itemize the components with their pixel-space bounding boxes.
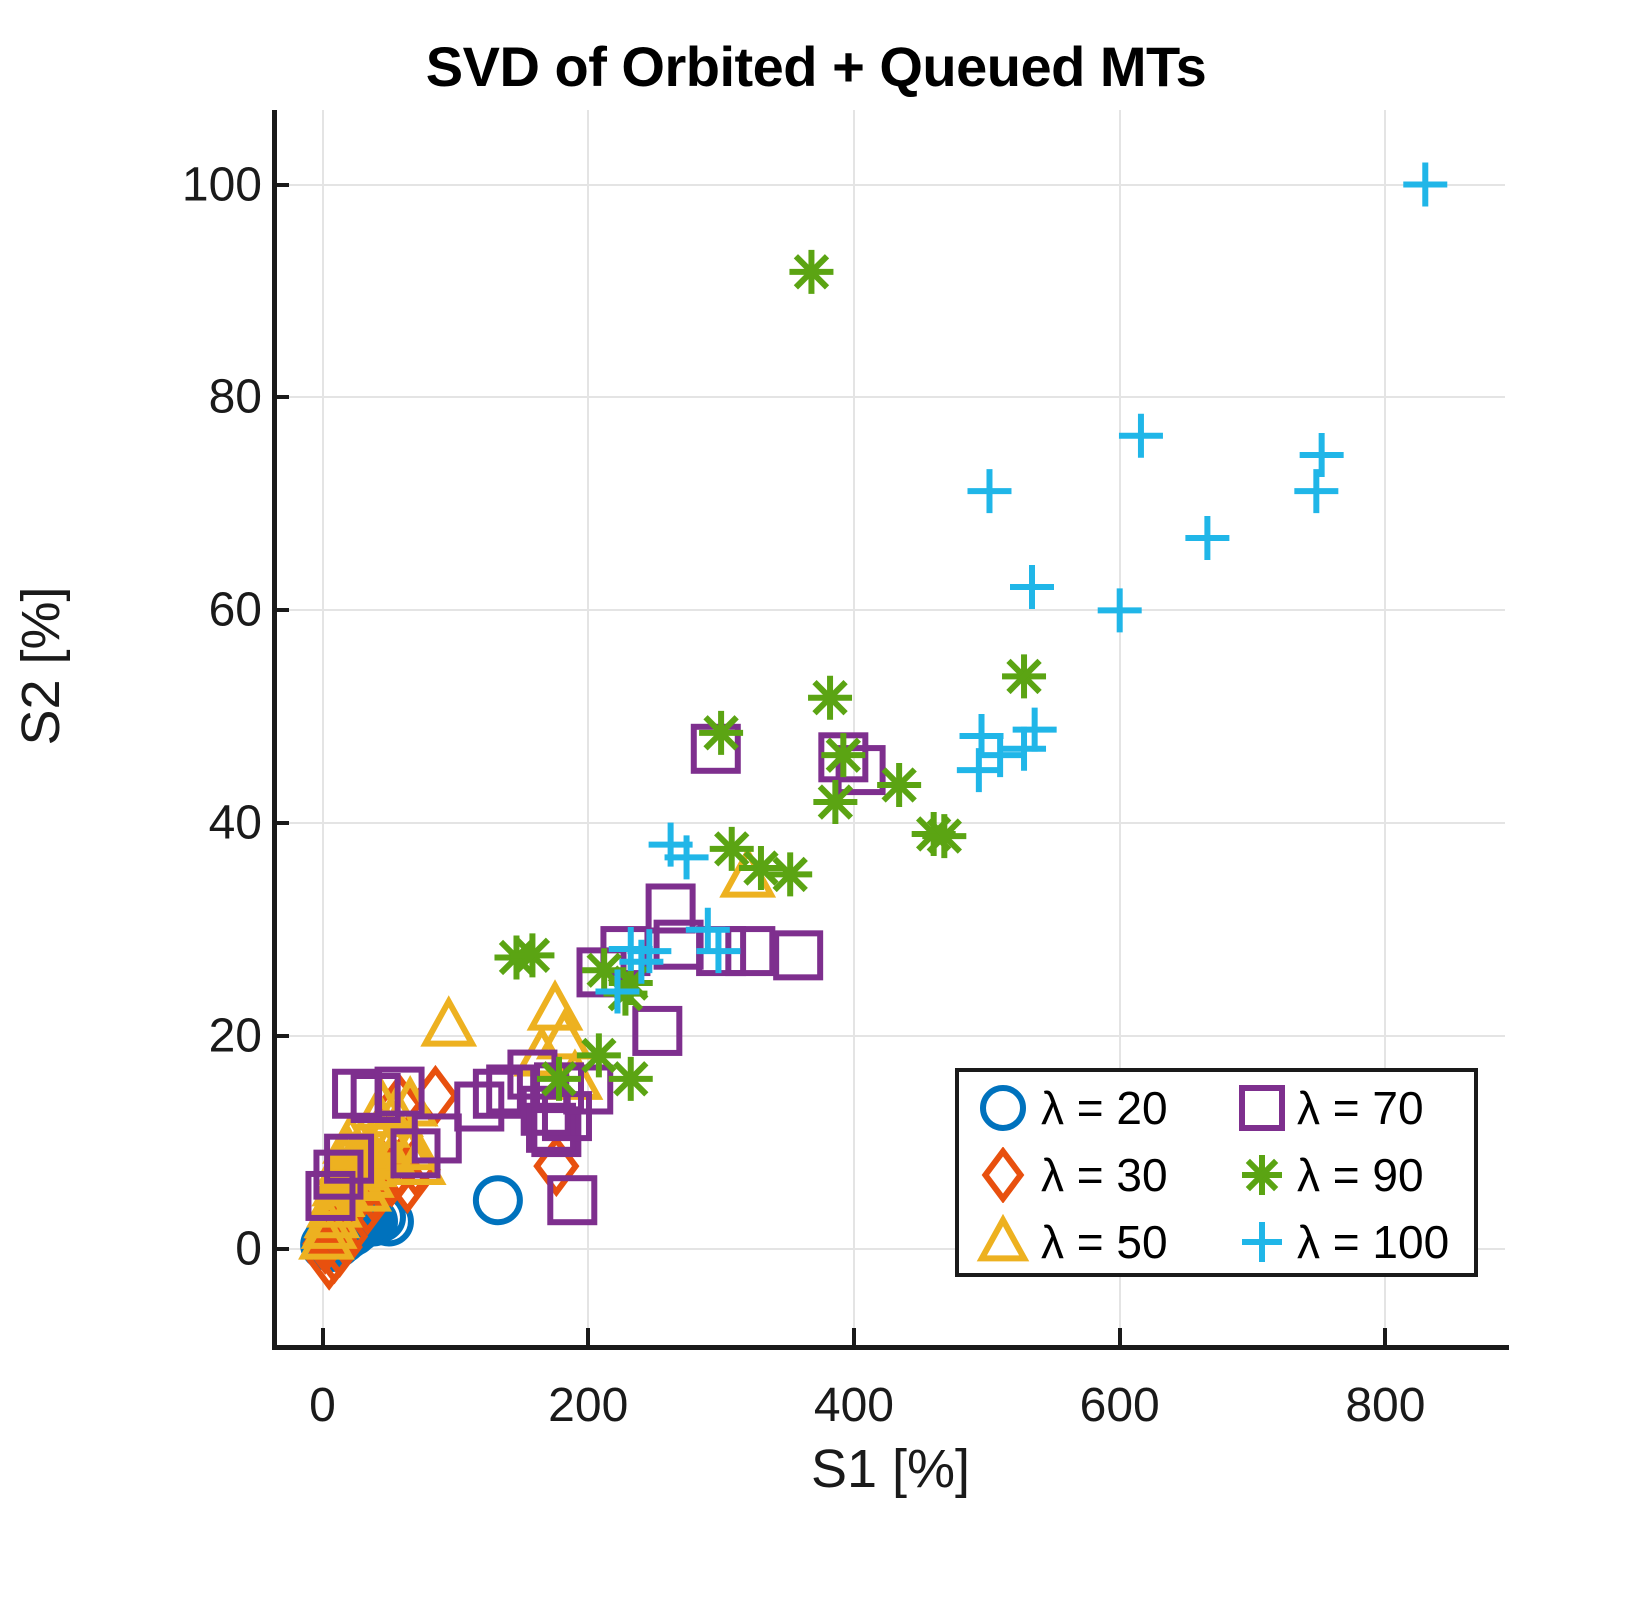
y-tick-label: 20 bbox=[209, 1009, 262, 1064]
marker-plus bbox=[1300, 433, 1344, 477]
marker-asterisk bbox=[739, 846, 783, 890]
y-tick-label: 40 bbox=[209, 796, 262, 851]
marker-asterisk bbox=[1242, 1155, 1282, 1195]
marker-plus bbox=[960, 714, 1004, 758]
legend-marker-square bbox=[1229, 1074, 1295, 1141]
y-axis-title: S2 [%] bbox=[10, 386, 72, 946]
series-plus bbox=[595, 163, 1447, 1014]
legend-label: λ = 20 bbox=[1039, 1081, 1229, 1135]
marker-square bbox=[550, 1178, 594, 1222]
series-square bbox=[308, 727, 882, 1222]
marker-asterisk bbox=[789, 250, 833, 294]
marker-square bbox=[776, 933, 820, 977]
legend-marker-plus bbox=[1229, 1208, 1295, 1275]
marker-asterisk bbox=[922, 814, 966, 858]
y-tick-label: 80 bbox=[209, 370, 262, 425]
marker-plus bbox=[1403, 163, 1447, 207]
marker-plus bbox=[1002, 727, 1046, 771]
marker-asterisk bbox=[609, 1057, 653, 1101]
legend-marker-triangle bbox=[967, 1208, 1039, 1275]
marker-diamond bbox=[985, 1151, 1020, 1198]
x-tick-label: 400 bbox=[814, 1378, 894, 1433]
marker-triangle bbox=[425, 1001, 472, 1043]
x-tick-label: 200 bbox=[548, 1378, 628, 1433]
marker-square bbox=[635, 1009, 679, 1053]
marker-asterisk bbox=[1002, 654, 1046, 698]
marker-asterisk bbox=[768, 852, 812, 896]
marker-asterisk bbox=[877, 763, 921, 807]
y-tick-label: 60 bbox=[209, 583, 262, 638]
marker-plus bbox=[1013, 708, 1057, 752]
marker-circle bbox=[476, 1178, 520, 1222]
marker-asterisk bbox=[808, 676, 852, 720]
marker-asterisk bbox=[821, 733, 865, 777]
marker-asterisk bbox=[510, 933, 554, 977]
x-axis-spine bbox=[272, 1345, 1509, 1350]
marker-plus bbox=[1119, 414, 1163, 458]
x-tick-label: 0 bbox=[309, 1378, 336, 1433]
marker-plus bbox=[1010, 565, 1054, 609]
marker-plus bbox=[1294, 469, 1338, 513]
marker-asterisk bbox=[813, 780, 857, 824]
legend-label: λ = 50 bbox=[1039, 1215, 1229, 1269]
chart-title: SVD of Orbited + Queued MTs bbox=[0, 34, 1632, 99]
legend-entries: λ = 20λ = 70λ = 30λ = 90λ = 50λ = 100 bbox=[967, 1074, 1472, 1275]
marker-asterisk bbox=[699, 711, 743, 755]
marker-plus bbox=[1242, 1222, 1282, 1262]
x-tick-label: 600 bbox=[1080, 1378, 1160, 1433]
marker-asterisk bbox=[577, 1033, 621, 1077]
marker-plus bbox=[1185, 516, 1229, 560]
y-tick-label: 100 bbox=[182, 157, 262, 212]
marker-asterisk bbox=[710, 827, 754, 871]
x-tick-label: 800 bbox=[1345, 1378, 1425, 1433]
marker-plus bbox=[1098, 588, 1142, 632]
figure-canvas: SVD of Orbited + Queued MTs 020040060080… bbox=[0, 0, 1632, 1602]
legend-box: λ = 20λ = 70λ = 30λ = 90λ = 50λ = 100 bbox=[955, 1068, 1478, 1277]
marker-asterisk bbox=[537, 1057, 581, 1101]
marker-triangle bbox=[982, 1220, 1024, 1258]
y-tick-label: 0 bbox=[235, 1222, 262, 1277]
legend-marker-diamond bbox=[967, 1141, 1039, 1208]
legend-label: λ = 100 bbox=[1295, 1215, 1485, 1269]
legend-label: λ = 70 bbox=[1295, 1081, 1485, 1135]
x-axis-title: S1 [%] bbox=[276, 1438, 1505, 1500]
marker-square bbox=[457, 1085, 501, 1129]
marker-circle bbox=[983, 1088, 1023, 1128]
legend-marker-circle bbox=[967, 1074, 1039, 1141]
marker-plus bbox=[967, 469, 1011, 513]
legend-label: λ = 90 bbox=[1295, 1148, 1485, 1202]
marker-square bbox=[1242, 1088, 1282, 1128]
legend-label: λ = 30 bbox=[1039, 1148, 1229, 1202]
legend-marker-asterisk bbox=[1229, 1141, 1295, 1208]
